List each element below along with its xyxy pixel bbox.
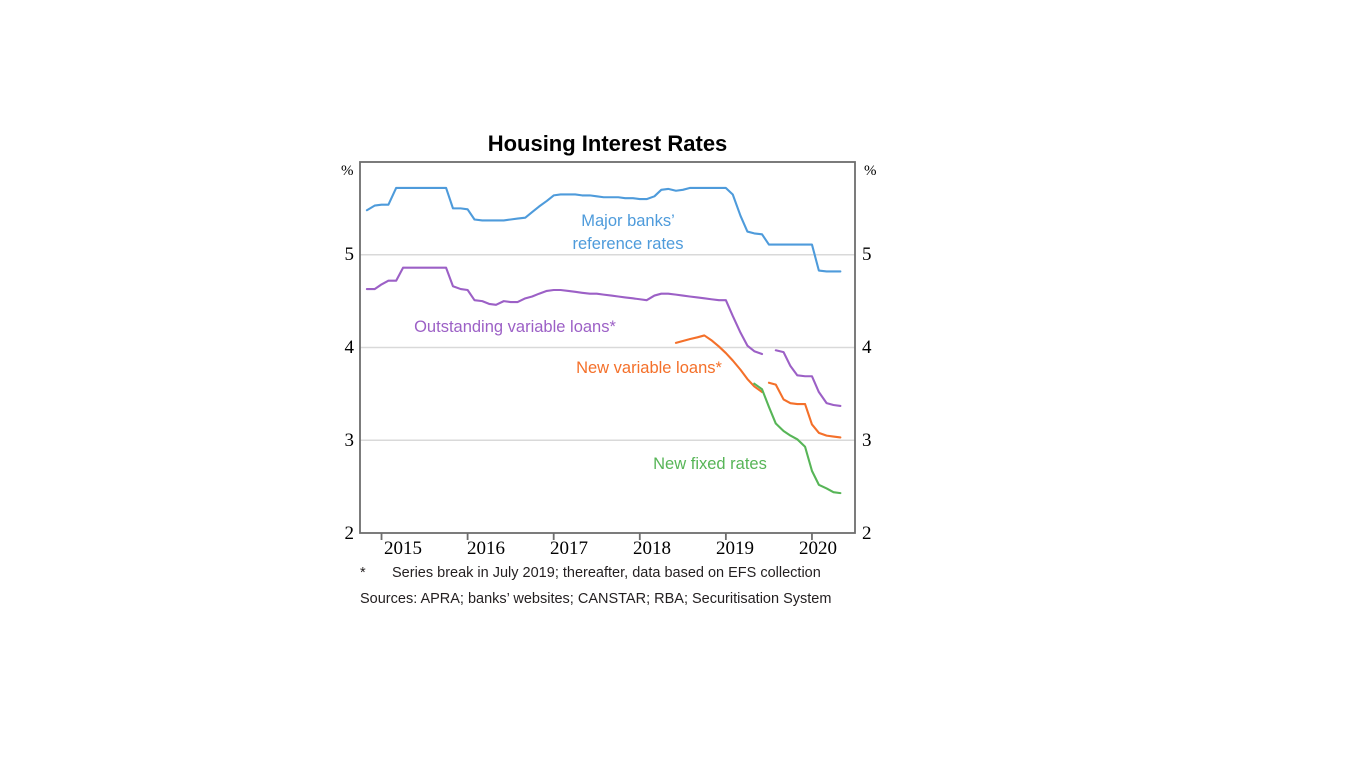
x-tick-2016: 2016	[441, 538, 531, 560]
series-lines	[367, 188, 840, 493]
sources-text: Sources: APRA; banks’ websites; CANSTAR;…	[360, 591, 831, 607]
footnote-marker: *	[360, 565, 366, 581]
plot-area	[0, 0, 1351, 763]
y-tick-left-4: 4	[338, 338, 354, 357]
series-label-major-banks-line1: Major banks’	[581, 212, 675, 231]
y-tick-right-4: 4	[862, 338, 878, 357]
footnote-text: Series break in July 2019; thereafter, d…	[392, 565, 821, 581]
y-tick-left-3: 3	[338, 431, 354, 450]
y-tick-left-5: 5	[338, 245, 354, 264]
y-tick-right-2: 2	[862, 524, 878, 543]
series-label-new-fixed: New fixed rates	[653, 455, 767, 474]
chart-title: Housing Interest Rates	[360, 131, 855, 157]
x-tick-2015: 2015	[358, 538, 448, 560]
series-label-outstanding-variable: Outstanding variable loans*	[414, 318, 616, 337]
series-label-new-variable: New variable loans*	[576, 359, 722, 378]
x-tick-2020: 2020	[773, 538, 863, 560]
gridlines	[360, 255, 855, 441]
x-tick-2017: 2017	[524, 538, 614, 560]
x-tick-2019: 2019	[690, 538, 780, 560]
series-label-major-banks-line2: reference rates	[573, 235, 684, 254]
y-tick-right-5: 5	[862, 245, 878, 264]
x-tick-2018: 2018	[607, 538, 697, 560]
y-tick-right-3: 3	[862, 431, 878, 450]
y-axis-unit-right: %	[864, 163, 877, 180]
y-axis-unit-left: %	[341, 163, 354, 180]
chart-figure: Housing Interest Rates % % 5 4 3 2 5 4 3…	[0, 0, 1351, 763]
y-tick-left-2: 2	[338, 524, 354, 543]
